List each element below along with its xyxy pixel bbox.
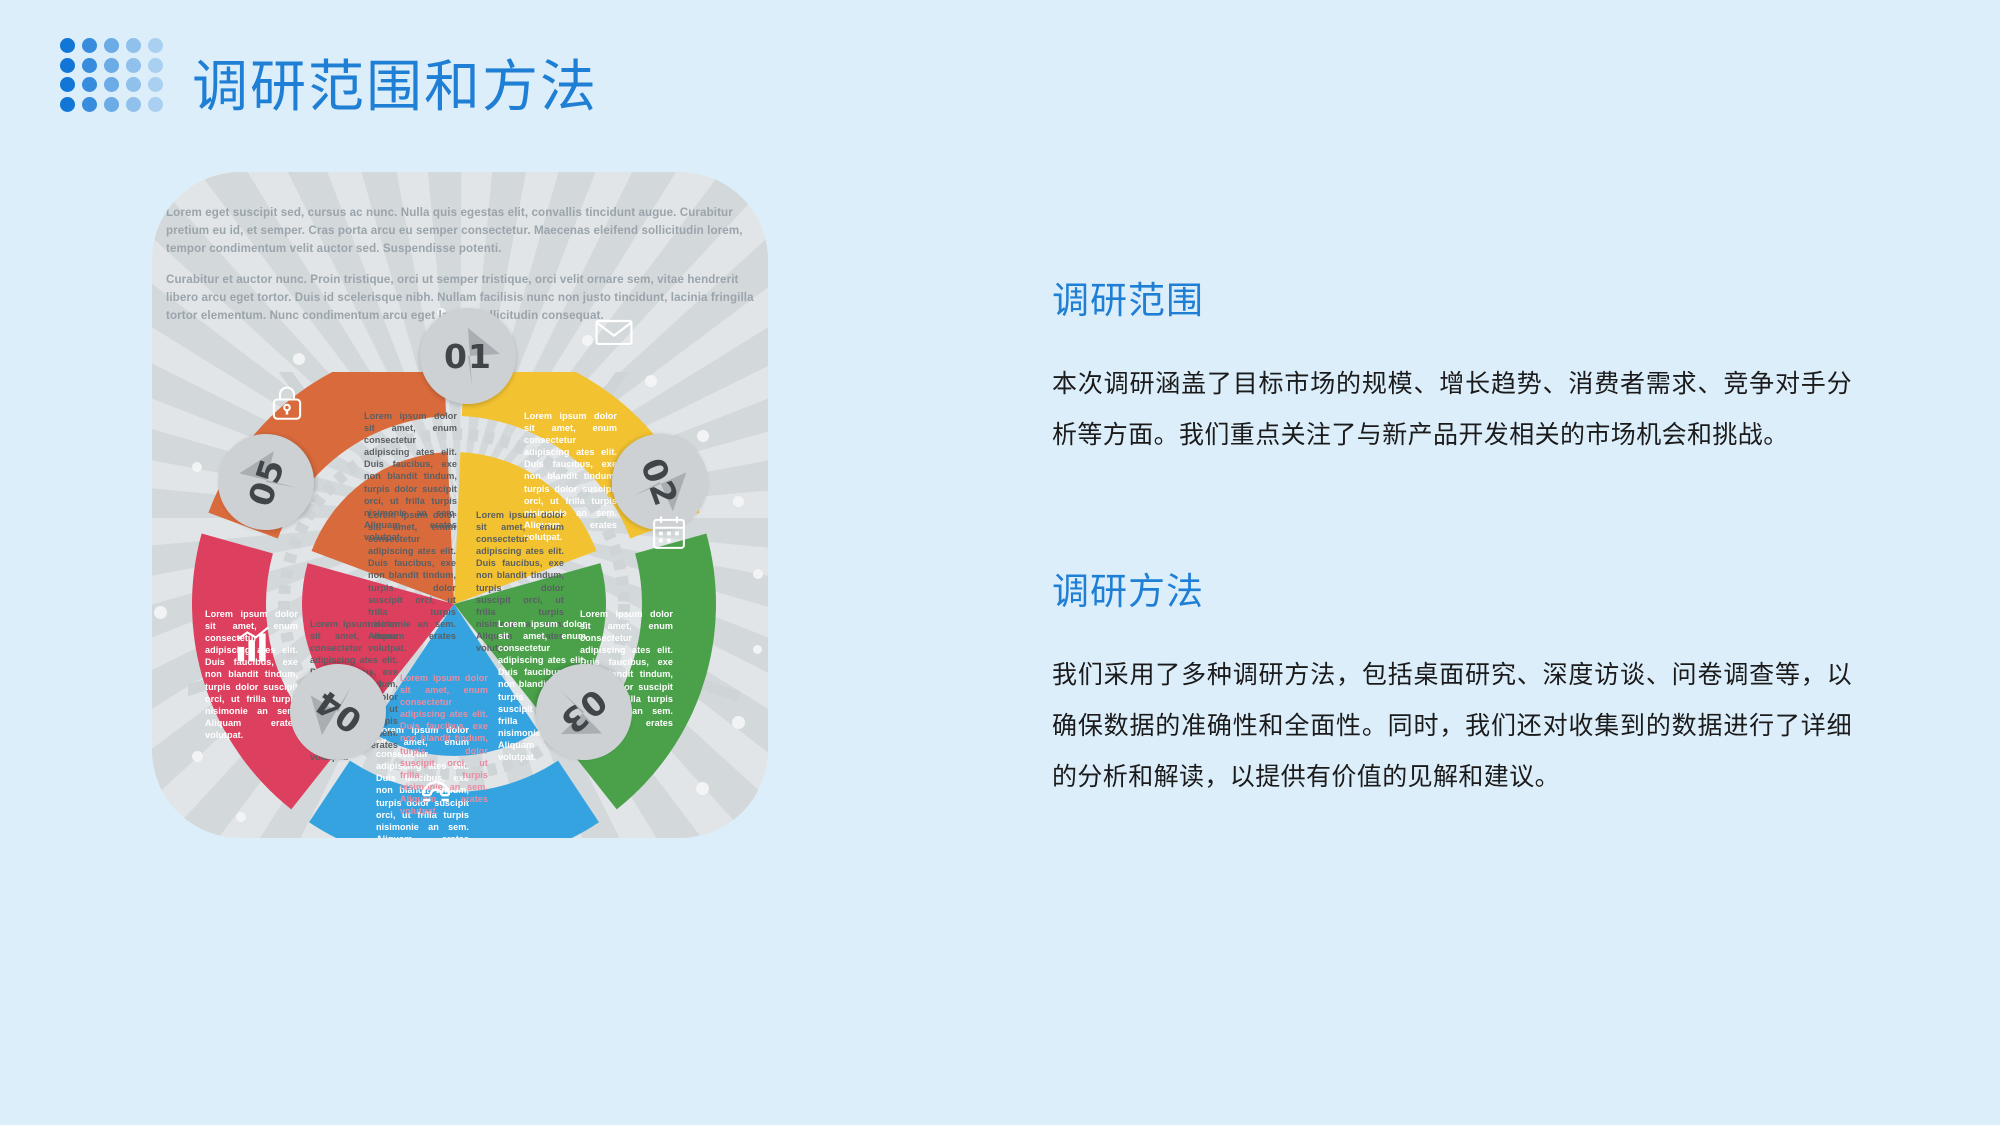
lock-icon (266, 382, 308, 424)
dot-grid-dot (148, 58, 163, 73)
dot-grid-dot (126, 58, 141, 73)
dot-grid-dot (82, 97, 97, 112)
decorative-dot (753, 569, 763, 579)
dot-grid-dot (60, 77, 75, 92)
dot-grid-dot (82, 58, 97, 73)
calendar-icon (648, 512, 690, 554)
dot-grid-dot (126, 77, 141, 92)
badge-01-number: 01 (420, 308, 516, 404)
dot-grid-dot (82, 77, 97, 92)
dot-grid-dot (60, 97, 75, 112)
slide-header: 调研范围和方法 (0, 0, 2000, 160)
section-2-body: 我们采用了多种调研方法，包括桌面研究、深度访谈、问卷调查等，以确保数据的准确性和… (1052, 649, 1852, 803)
dot-grid-dot (104, 38, 119, 53)
dot-grid-dot (60, 38, 75, 53)
badge-01[interactable]: 01 (420, 308, 516, 404)
dot-grid-dot (104, 58, 119, 73)
badge-connector (703, 685, 739, 697)
dot-grid-dot (104, 97, 119, 112)
dot-grid-dot (148, 38, 163, 53)
decorative-dot (154, 606, 167, 619)
decorative-dot (293, 353, 305, 365)
dot-grid-icon (60, 38, 170, 116)
section-research-scope: 调研范围 本次调研涵盖了目标市场的规模、增长趋势、消费者需求、竞争对手分析等方面… (1052, 270, 1852, 461)
bar-chart-icon (230, 622, 276, 668)
infographic-lorem-text: Lorem eget suscipit sed, cursus ac nunc.… (166, 204, 766, 325)
badge-connector (188, 685, 205, 697)
dot-grid-dot (148, 97, 163, 112)
pie-wheel: Lorem ipsum dolor sit amet, enum consect… (188, 372, 748, 838)
dot-grid-dot (60, 58, 75, 73)
section-1-body: 本次调研涵盖了目标市场的规模、增长趋势、消费者需求、竞争对手分析等方面。我们重点… (1052, 358, 1852, 461)
infographic-card: Lorem eget suscipit sed, cursus ac nunc.… (152, 172, 768, 838)
page-title: 调研范围和方法 (192, 42, 598, 123)
decorative-dot (753, 645, 762, 654)
dot-grid-dot (82, 38, 97, 53)
dot-grid-dot (126, 38, 141, 53)
section-research-method: 调研方法 我们采用了多种调研方法，包括桌面研究、深度访谈、问卷调查等，以确保数据… (1052, 561, 1852, 803)
section-1-heading: 调研范围 (1052, 270, 1852, 324)
badge-connector (608, 372, 630, 392)
magnet-icon (414, 764, 458, 808)
dot-grid-dot (104, 77, 119, 92)
section-2-heading: 调研方法 (1052, 561, 1852, 615)
dot-grid-dot (148, 77, 163, 92)
dot-grid-dot (126, 97, 141, 112)
content-column: 调研范围 本次调研涵盖了目标市场的规模、增长趋势、消费者需求、竞争对手分析等方面… (1052, 270, 1852, 802)
lorem-paragraph: Lorem eget suscipit sed, cursus ac nunc.… (166, 204, 766, 258)
envelope-icon (592, 310, 636, 354)
